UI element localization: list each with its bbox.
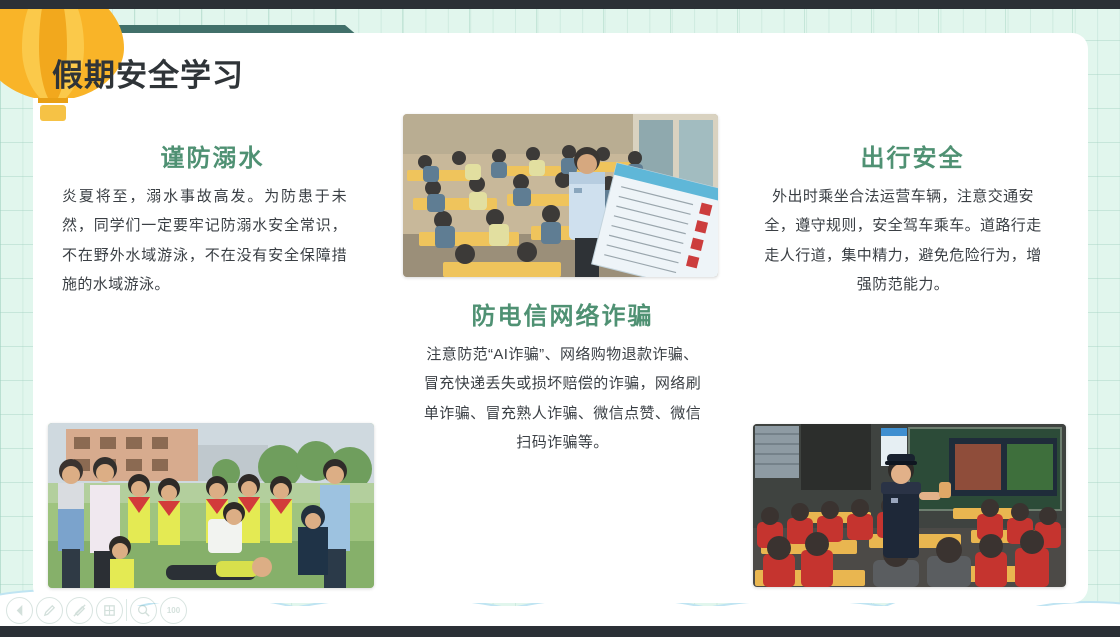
page-title: 假期安全学习 [52, 50, 244, 95]
triangle-left-icon [12, 603, 27, 618]
eraser-button[interactable] [66, 597, 93, 624]
section-heading-travel: 出行安全 [790, 138, 1035, 173]
presentation-slide: 假期安全学习 谨防溺水 炎夏将至，溺水事故高发。为防患于未然，同学们一定要牢记防… [0, 0, 1120, 637]
window-chrome-bottom [0, 626, 1120, 637]
section-body-fraud: 注意防范“AI诈骗”、网络购物退款诈骗、冒充快递丢失或损坏赔偿的诈骗，网络刷单诈… [420, 340, 705, 457]
pen-button[interactable] [36, 597, 63, 624]
toolbar-divider [126, 599, 127, 621]
zoom-button[interactable] [130, 597, 157, 624]
section-body-drowning: 炎夏将至，溺水事故高发。为防患于未然，同学们一定要牢记防溺水安全常识，不在野外水… [62, 182, 347, 299]
photo-classroom-officer [403, 114, 718, 277]
eraser-slash-icon [72, 603, 87, 618]
photo-policewoman-class [753, 424, 1066, 587]
pen-icon [42, 603, 57, 618]
section-heading-drowning: 谨防溺水 [80, 138, 345, 173]
magnifier-icon [136, 603, 151, 618]
zoom-level-indicator[interactable]: 100 [160, 597, 187, 624]
photo-cpr-drill [48, 423, 374, 588]
grid-button[interactable] [96, 597, 123, 624]
zoom-level-label: 100 [167, 606, 180, 615]
watermark-toolbar: 100 [6, 595, 187, 625]
previous-button[interactable] [6, 597, 33, 624]
section-body-travel: 外出时乘坐合法运营车辆，注意交通安全，遵守规则，安全驾车乘车。道路行走走人行道，… [758, 182, 1048, 299]
grid-icon [102, 603, 117, 618]
window-chrome-top [0, 0, 1120, 9]
section-heading-fraud: 防电信网络诈骗 [425, 296, 700, 331]
